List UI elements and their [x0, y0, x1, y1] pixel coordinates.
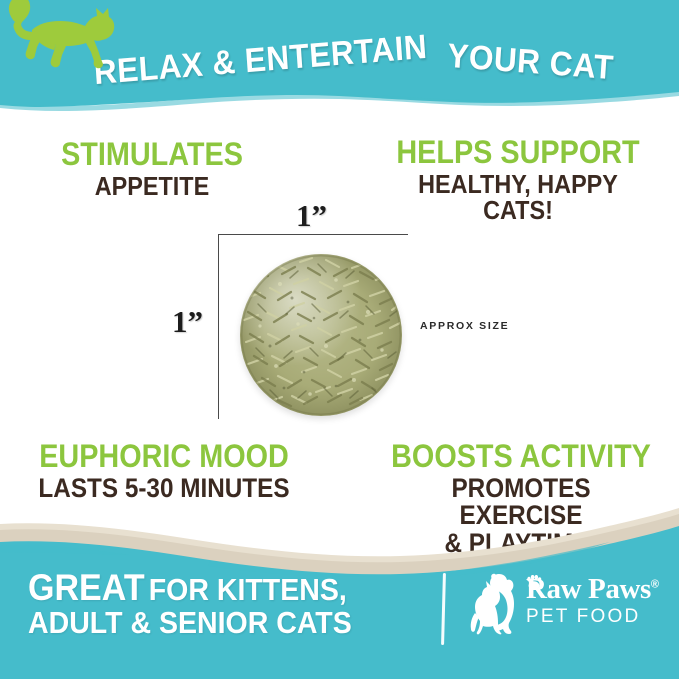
- dimension-label-height: 1”: [172, 306, 203, 337]
- feature-headline: STIMULATES: [31, 138, 272, 171]
- footer-tagline: GREAT FOR KITTENS, ADULT & SENIOR CATS: [28, 569, 418, 638]
- footer-tagline-line1: FOR KITTENS,: [149, 572, 347, 607]
- footer-tagline-emphasis: GREAT: [28, 567, 145, 608]
- brand-subline: PET FOOD: [526, 607, 666, 626]
- footer-content: GREAT FOR KITTENS, ADULT & SENIOR CATS: [0, 551, 679, 679]
- footer-tagline-line2: ADULT & SENIOR CATS: [28, 607, 387, 638]
- feature-headline: HELPS SUPPORT: [387, 136, 650, 169]
- feature-headline: EUPHORIC MOOD: [29, 440, 299, 473]
- brand-name: Raw Paws®: [526, 575, 666, 604]
- top-banner: RELAX & ENTERTAIN YOUR CAT: [0, 0, 679, 118]
- dimension-line-horizontal: [218, 234, 408, 235]
- catnip-ball-image: [240, 254, 402, 416]
- header-text-right: YOUR CAT: [446, 36, 615, 87]
- feature-subline: APPETITE: [31, 173, 272, 200]
- registered-trademark-icon: ®: [651, 578, 659, 590]
- feature-stimulates-appetite: STIMULATES APPETITE: [18, 138, 286, 199]
- dog-and-cat-silhouette-icon: [470, 573, 526, 635]
- approx-size-note: APPROX SIZE: [420, 320, 509, 332]
- feature-helps-support: HELPS SUPPORT HEALTHY, HAPPY CATS!: [372, 136, 664, 224]
- paw-print-icon: [526, 575, 542, 590]
- dimension-label-width: 1”: [296, 200, 327, 231]
- catnip-ball-icon: [240, 254, 402, 416]
- brand-wordmark: Raw Paws® PET FOOD: [526, 575, 666, 626]
- header-row: RELAX & ENTERTAIN YOUR CAT: [0, 0, 679, 104]
- infographic-canvas: RELAX & ENTERTAIN YOUR CAT STIMULATES AP…: [0, 0, 679, 679]
- walking-cat-icon: [2, 0, 120, 74]
- feature-subline: HEALTHY, HAPPY CATS!: [387, 171, 650, 224]
- dimension-line-vertical: [218, 234, 219, 419]
- header-text-left: RELAX & ENTERTAIN: [93, 27, 429, 92]
- catnip-texture: [240, 254, 402, 416]
- brand-logo[interactable]: Raw Paws® PET FOOD: [470, 573, 666, 647]
- feature-euphoric-mood: EUPHORIC MOOD LASTS 5-30 MINUTES: [14, 440, 314, 502]
- footer-divider: [441, 573, 446, 645]
- bottom-banner: GREAT FOR KITTENS, ADULT & SENIOR CATS: [0, 494, 679, 679]
- feature-headline: BOOSTS ACTIVITY: [391, 440, 652, 473]
